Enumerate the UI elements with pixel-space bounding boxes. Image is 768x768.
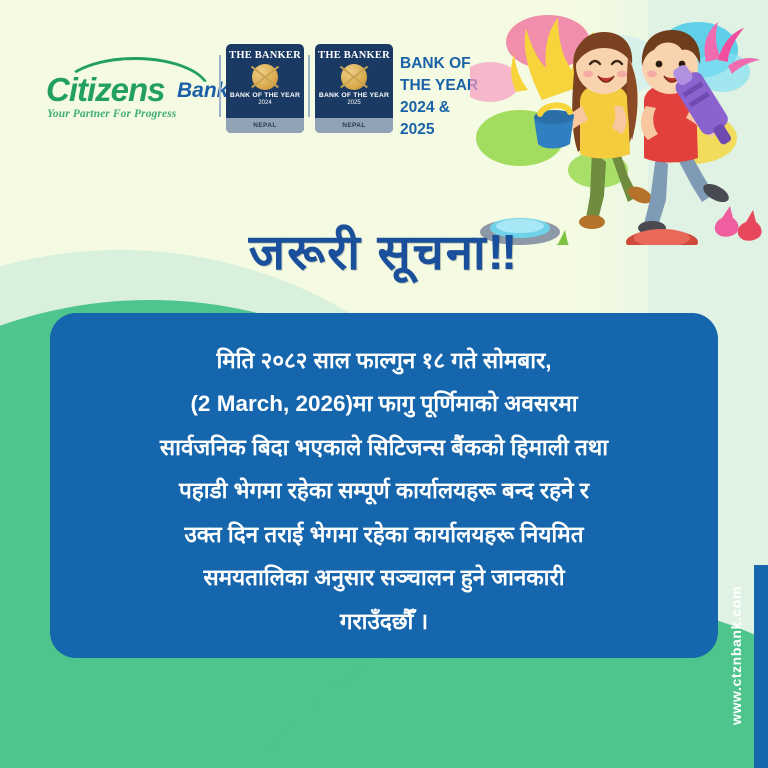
award-country: NEPAL xyxy=(315,118,393,133)
award-year: 2024 xyxy=(226,100,304,106)
logo-name: Citizens xyxy=(46,71,165,109)
website-url[interactable]: www.ctznbank.com xyxy=(728,586,744,725)
notice-line-2: (2 March, 2026)मा फागु पूर्णिमाको अवसरमा xyxy=(72,382,696,425)
website-strip xyxy=(754,565,768,768)
notice-line-7: गराउँदछौँ । xyxy=(72,600,696,643)
logo-tagline: Your Partner For Progress xyxy=(47,108,176,120)
holi-illustration xyxy=(470,10,768,245)
poster-canvas: Citizens Bank Your Partner For Progress … xyxy=(0,0,768,768)
divider-1 xyxy=(219,55,221,117)
award-title: BANK OF THE YEAR xyxy=(315,92,393,99)
citizens-bank-logo[interactable]: Citizens Bank Your Partner For Progress xyxy=(46,57,221,127)
notice-line-4: पहाडी भेगमा रहेका सम्पूर्ण कार्यालयहरू ब… xyxy=(72,469,696,512)
award-caption-line-2: THE YEAR xyxy=(400,75,478,97)
award-caption-line-1: BANK OF xyxy=(400,53,478,75)
award-caption-line-3: 2024 & xyxy=(400,97,478,119)
award-badge-2024: THE BANKER BANK OF THE YEAR 2024 NEPAL xyxy=(226,44,304,133)
award-publisher: THE BANKER xyxy=(315,50,393,61)
award-country: NEPAL xyxy=(226,118,304,133)
holi-illustration-svg xyxy=(470,10,768,245)
page-title: जरूरी सूचना‼ xyxy=(0,218,768,284)
award-title: BANK OF THE YEAR xyxy=(226,92,304,99)
notice-line-5: उक्त दिन तराई भेगमा रहेका कार्यालयहरू नि… xyxy=(72,513,696,556)
notice-card: मिति २०८२ साल फाल्गुन १८ गते सोमबार, (2 … xyxy=(50,313,718,658)
notice-line-1: मिति २०८२ साल फाल्गुन १८ गते सोमबार, xyxy=(72,339,696,382)
award-badge-2025: THE BANKER BANK OF THE YEAR 2025 NEPAL xyxy=(315,44,393,133)
award-year: 2025 xyxy=(315,100,393,106)
medal-icon xyxy=(252,64,278,90)
notice-line-6: समयतालिका अनुसार सञ्चालन हुने जानकारी xyxy=(72,556,696,599)
award-publisher: THE BANKER xyxy=(226,50,304,61)
notice-line-3: सार्वजनिक बिदा भएकाले सिटिजन्स बैंकको हि… xyxy=(72,426,696,469)
award-caption-line-4: 2025 xyxy=(400,119,478,141)
award-caption: BANK OF THE YEAR 2024 & 2025 xyxy=(400,53,478,141)
divider-2 xyxy=(308,55,310,117)
medal-icon xyxy=(341,64,367,90)
